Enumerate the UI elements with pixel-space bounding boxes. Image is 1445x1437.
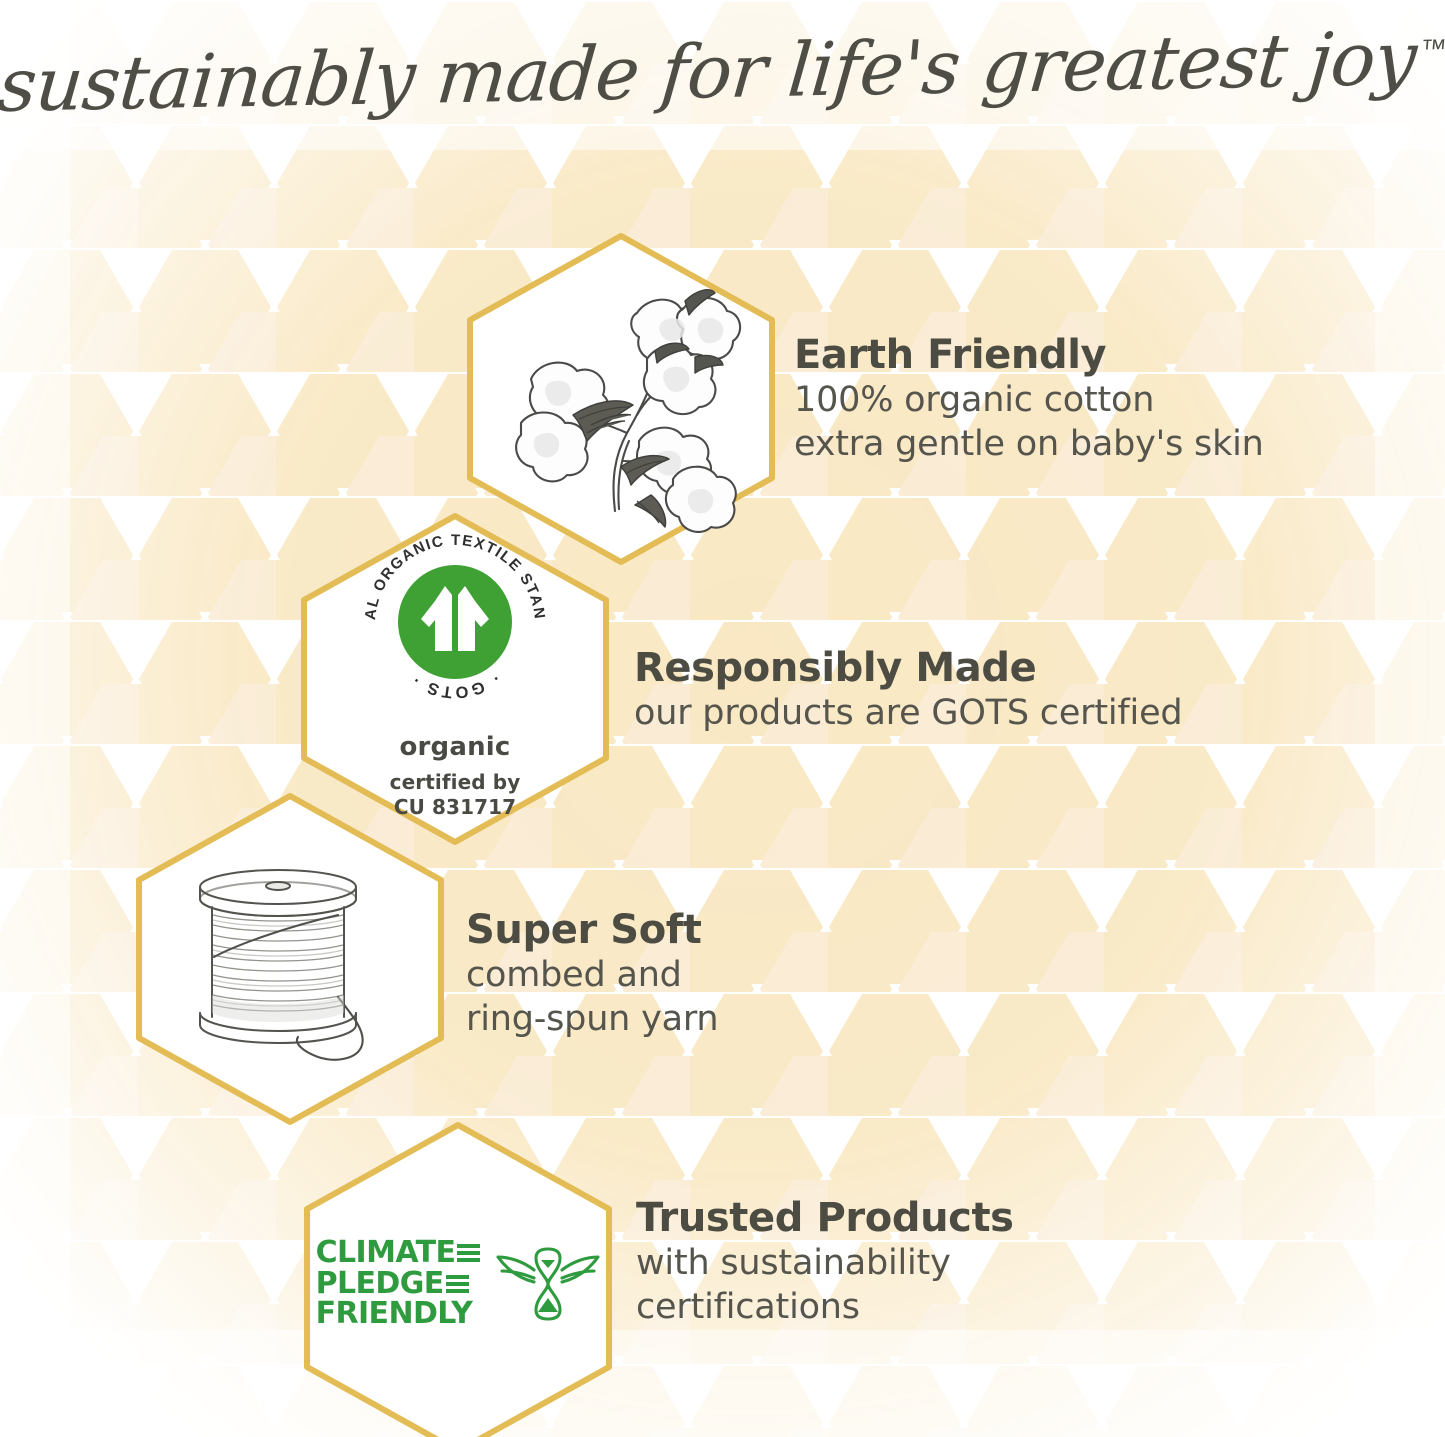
climate-pledge-wordmark: CLIMATE PLEDGE FRIENDLY <box>316 1238 481 1330</box>
hex-frame-trusted-products: CLIMATE PLEDGE FRIENDLY <box>302 1120 614 1437</box>
feature-trusted-products: CLIMATE PLEDGE FRIENDLY <box>0 0 1445 1437</box>
feature-text-trusted-products: Trusted Products with sustainability cer… <box>636 1196 1014 1329</box>
cpf-line-1: CLIMATE <box>316 1238 456 1269</box>
cpf-line-2: PLEDGE <box>316 1269 444 1300</box>
winged-hourglass-icon <box>496 1244 600 1324</box>
cpf-bars-2 <box>446 1275 469 1293</box>
climate-pledge-friendly-icon: CLIMATE PLEDGE FRIENDLY <box>316 1238 601 1330</box>
infographic-canvas: sustainably made for life's greatest joy… <box>0 0 1445 1437</box>
cpf-bars-1 <box>457 1244 480 1262</box>
feature-line-1: with sustainability <box>636 1241 1014 1285</box>
feature-title: Trusted Products <box>636 1196 1014 1241</box>
feature-line-2: certifications <box>636 1285 1014 1329</box>
cpf-line-3: FRIENDLY <box>316 1299 473 1330</box>
